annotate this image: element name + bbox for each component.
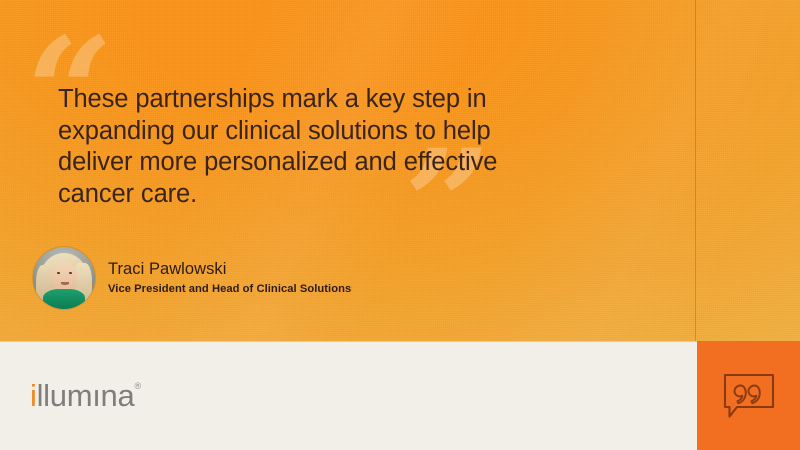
avatar (33, 247, 95, 309)
logo-registered-mark: ® (134, 382, 140, 391)
quote-text: These partnerships mark a key step in ex… (58, 84, 528, 210)
attribution: Traci Pawlowski Vice President and Head … (33, 247, 351, 309)
speaker-title: Vice President and Head of Clinical Solu… (108, 281, 351, 297)
footer-divider (0, 341, 697, 342)
hero-panel: “ ” These partnerships mark a key step i… (0, 0, 800, 341)
attribution-text: Traci Pawlowski Vice President and Head … (108, 259, 351, 297)
quote-badge (697, 341, 800, 450)
quote-bubble-icon (723, 373, 775, 419)
logo-initial: i (30, 380, 37, 411)
speaker-name: Traci Pawlowski (108, 259, 351, 279)
quote-slide: “ ” These partnerships mark a key step i… (0, 0, 800, 450)
vertical-divider (695, 0, 696, 341)
logo-wordmark: llumına (37, 380, 135, 411)
illumina-logo: illumına® (30, 380, 141, 411)
